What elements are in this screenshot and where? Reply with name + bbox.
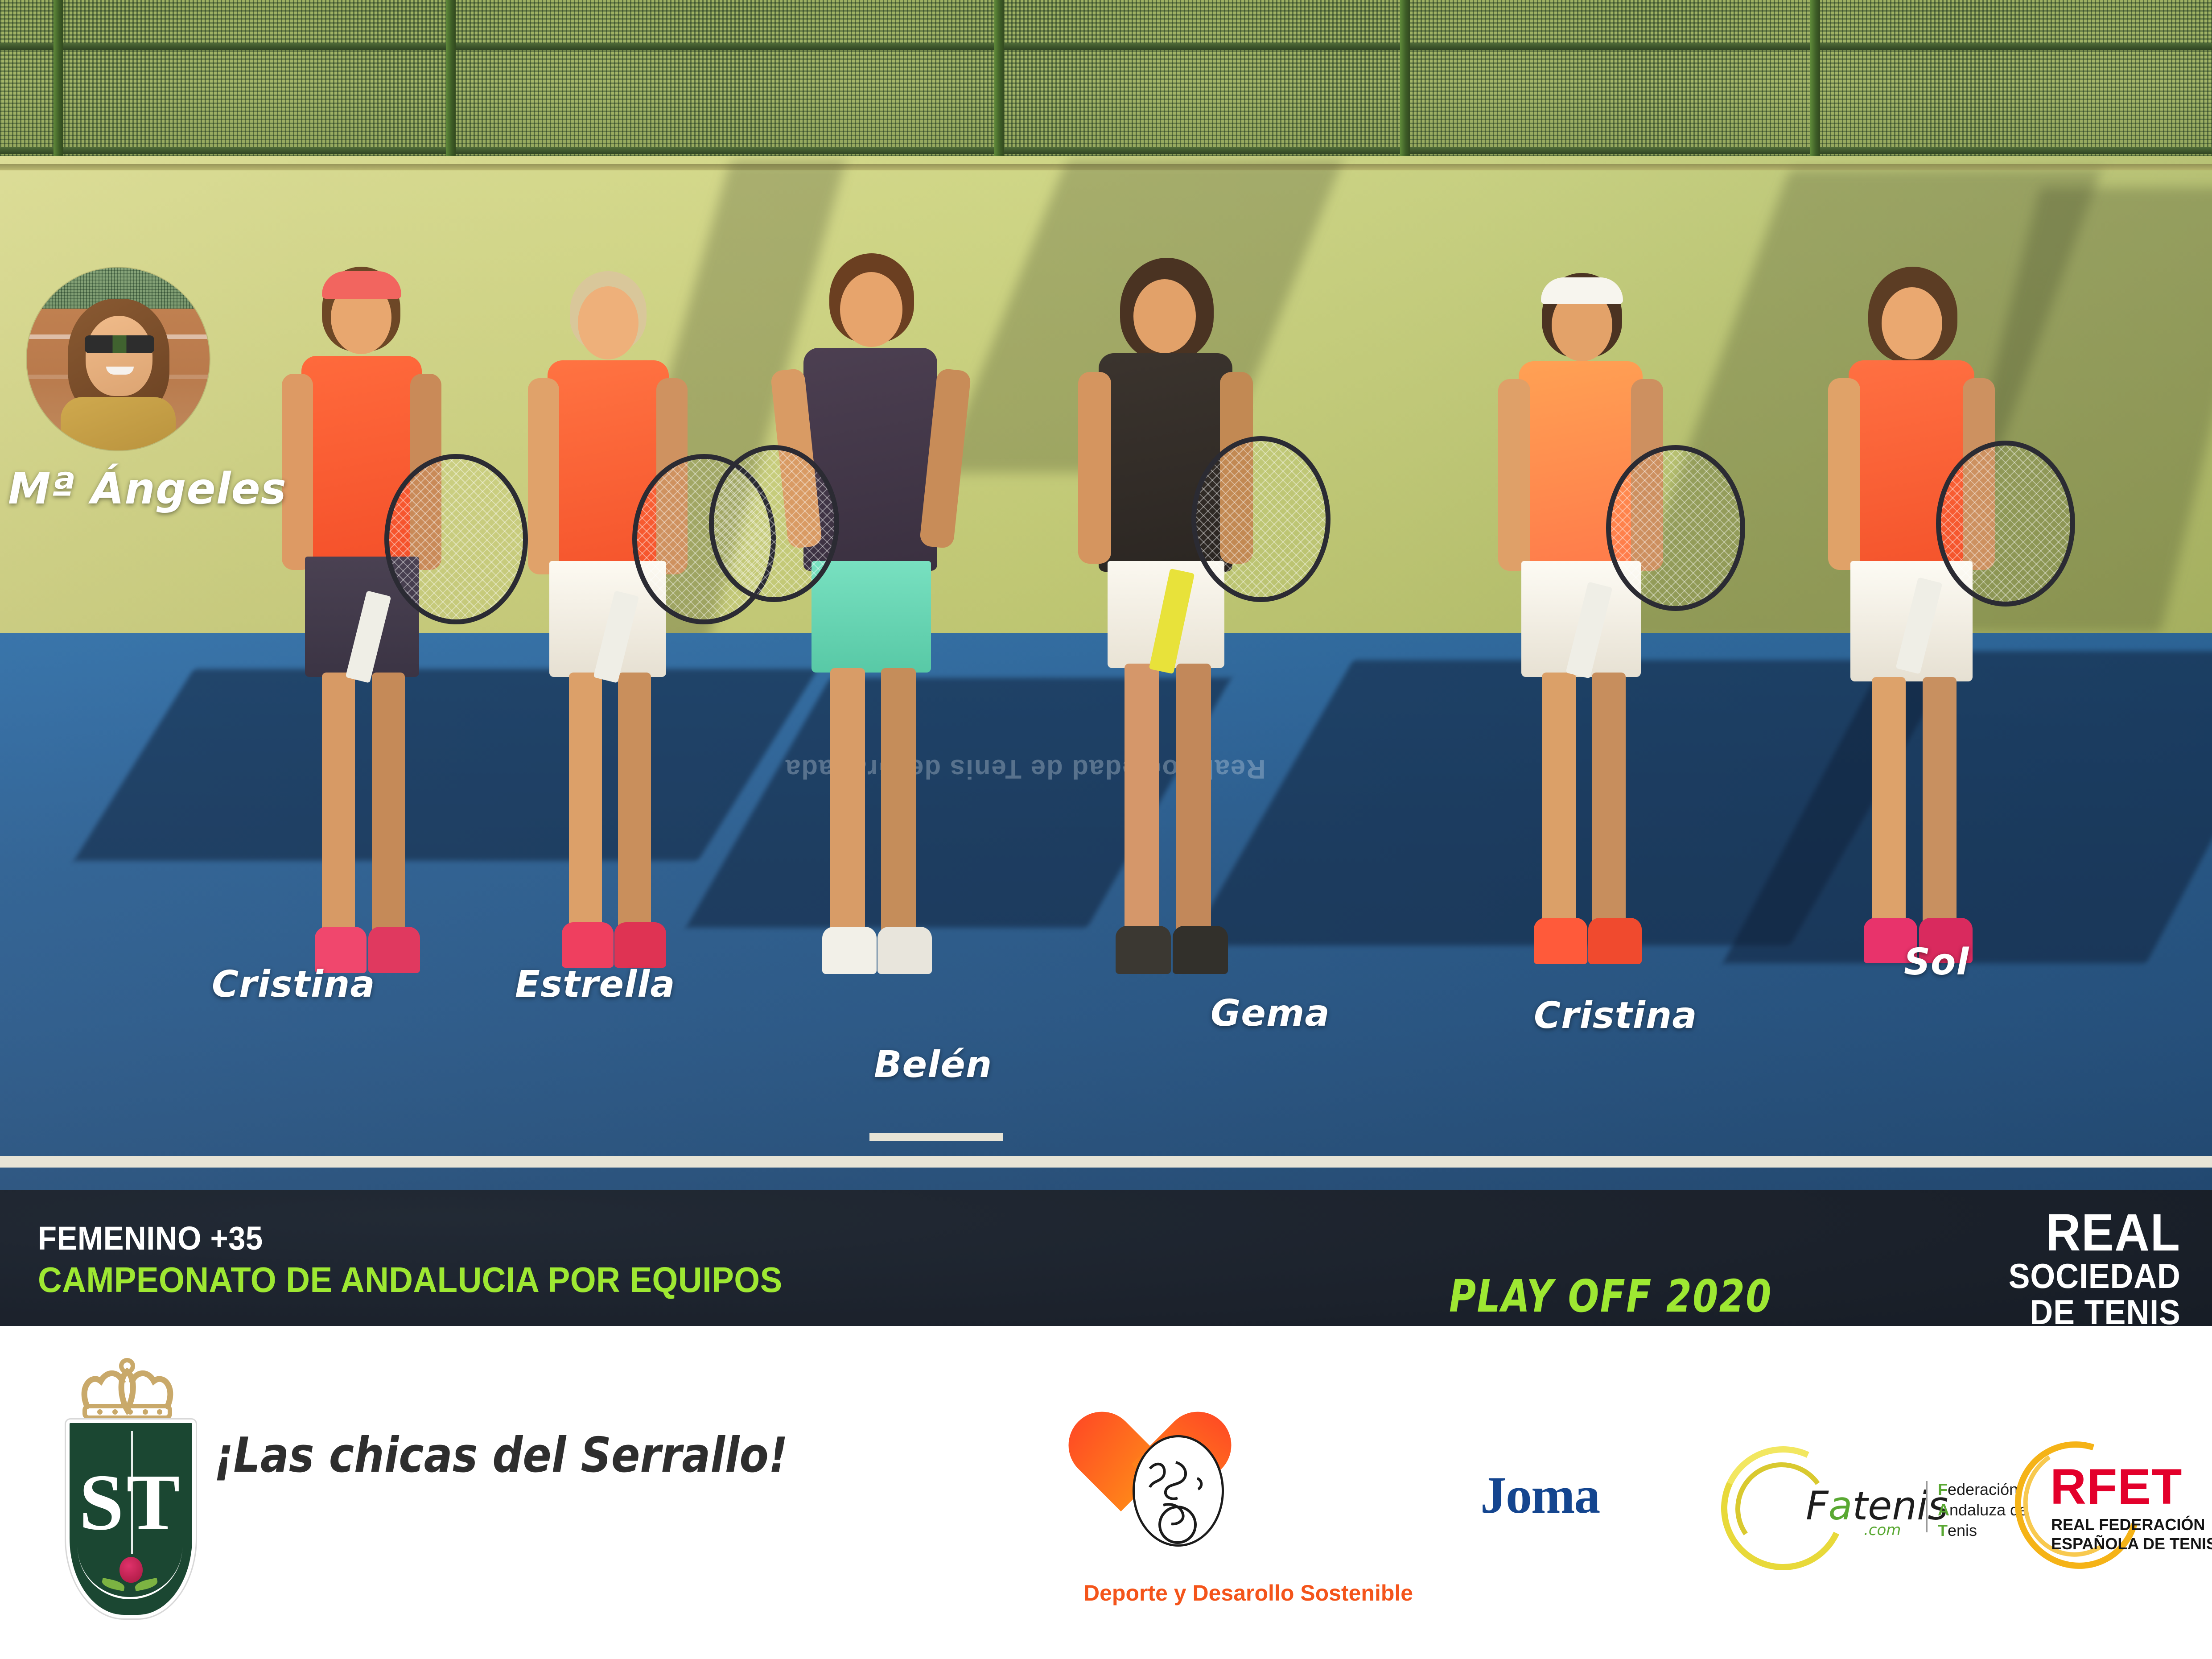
club-wordmark: REAL SOCIEDAD DE TENIS [1994,1208,2181,1330]
competition-title: CAMPEONATO DE ANDALUCIA POR EQUIPOS [38,1262,783,1298]
federation-initial-t: T [1938,1521,1948,1539]
tennis-racket [384,454,528,624]
federation-initial-a: A [1938,1501,1949,1519]
title-banner: FEMENINO +35 CAMPEONATO DE ANDALUCIA POR… [0,1190,2212,1326]
shoe-right [877,927,932,974]
shoe-left [1534,918,1587,964]
shoe-left [822,927,877,974]
shield-icon: ST [66,1420,196,1618]
fence-rail-bottom [0,147,2212,154]
fatenis-wordmark-accent: a [1829,1483,1853,1529]
fatenis-federation-name: Federación Andaluza de Tenis [1938,1479,2028,1541]
team-tagline: ¡Las chicas del Serrallo! [214,1428,788,1483]
serrallo-crest: ST [54,1353,201,1620]
tennis-racket [1606,445,1745,611]
caption-cristina-2: Cristina [1534,995,1697,1037]
shoe-right [1588,918,1642,964]
crown-icon [75,1356,180,1423]
player-figure-cristina-1 [272,262,459,998]
caption-belen: Belén [874,1044,992,1086]
pomegranate-icon [119,1557,143,1583]
globe-icon [1133,1435,1224,1547]
rfet-subtitle-line-1: REAL FEDERACIÓN [2051,1515,2212,1534]
tennis-racket [1191,436,1330,602]
fence-rail-top [0,43,2212,50]
visor [322,271,401,299]
club-line-3: DE TENIS [2009,1294,2181,1330]
fatenis-wordmark-pre: F [1806,1483,1829,1529]
sustainability-logo: Deporte y Desarollo Sostenible [1083,1357,1360,1634]
caption-ma-angeles: Mª Ángeles [8,464,287,514]
category-title: FEMENINO +35 [38,1222,783,1255]
head [840,272,902,347]
shoe-right [614,922,666,968]
poster-root: Real Sociedad de Tenis de Granada [0,0,2212,1659]
team-photo: Real Sociedad de Tenis de Granada [0,0,2212,1190]
leg-right [881,668,916,936]
caption-sol: Sol [1904,941,1969,983]
sunglasses-icon [85,335,154,353]
leg-right [1592,673,1626,927]
arm-left [528,378,559,574]
head [1882,287,1942,359]
player-figure-belen [776,253,972,1003]
fence-post [1810,0,1820,156]
inset-face [86,316,152,396]
head [578,286,638,359]
federation-rest-3: enis [1948,1521,1977,1539]
fatenis-domain: .com [1864,1521,1901,1539]
leg-left [830,668,865,936]
sustainability-label: Deporte y Desarollo Sostenible [1083,1580,1360,1606]
rfet-subtitle-line-2: ESPAÑOLA DE TENIS [2051,1534,2212,1553]
leg-right [618,673,651,931]
federation-line-3: Tenis [1938,1520,2028,1541]
fence-post [54,0,63,156]
leg-left [1872,677,1906,927]
head [1133,279,1196,353]
fence-post [994,0,1004,156]
leg-left [1125,664,1159,936]
federation-initial-f: F [1938,1480,1948,1498]
shoe-right [368,927,420,973]
tennis-racket [1936,441,2075,607]
court-fence [0,0,2212,156]
inset-shirt [61,397,176,450]
tennis-racket [709,445,839,602]
player-figure-sol [1819,267,2011,971]
shoe-left [562,922,614,968]
arm-left [1498,379,1530,571]
skirt [811,561,931,673]
fatenis-divider [1926,1481,1928,1532]
federation-rest-1: ederación [1948,1480,2018,1498]
court-baseline [0,1156,2212,1168]
caption-estrella: Estrella [515,963,676,1006]
arm-left [1828,378,1860,570]
leg-right [372,673,405,936]
caption-gema: Gema [1211,992,1330,1035]
leg-right [1176,664,1211,936]
visor [1541,277,1623,304]
banner-title-group: FEMENINO +35 CAMPEONATO DE ANDALUCIA POR… [38,1222,838,1298]
arm-left [1078,372,1111,564]
inset-portrait-ma-angeles [27,268,210,450]
leg-left [322,673,355,936]
joma-logo: Joma [1480,1465,1599,1526]
sponsor-bar: ST ¡Las chicas del Serrallo! [0,1326,2212,1659]
court-center-mark [869,1133,1003,1141]
inset-smile [106,367,134,375]
rfet-subtitle: REAL FEDERACIÓN ESPAÑOLA DE TENIS [2051,1515,2212,1553]
player-figure-estrella [517,267,704,985]
shoe-left [1116,926,1171,974]
shoe-right [1173,926,1228,974]
leg-left [569,673,602,931]
player-figure-cristina-2 [1489,267,1681,980]
fence-post [446,0,456,156]
federation-line-1: Federación [1938,1479,2028,1500]
stage-label: PLAY OFF 2020 [1449,1270,1772,1322]
caption-cristina-1: Cristina [212,963,375,1006]
leg-right [1923,677,1957,927]
fatenis-logo: Fatenis .com Federación Andaluza de Teni… [1721,1446,2006,1562]
rfet-logo: RFET REAL FEDERACIÓN ESPAÑOLA DE TENIS [2015,1441,2203,1570]
player-figure-gema [1070,258,1266,994]
leg-left [1542,673,1576,927]
club-line-2: SOCIEDAD [2009,1258,2181,1294]
rfet-acronym: RFET [2050,1458,2182,1515]
fence-post [1400,0,1410,156]
club-line-1: REAL [2009,1208,2181,1258]
